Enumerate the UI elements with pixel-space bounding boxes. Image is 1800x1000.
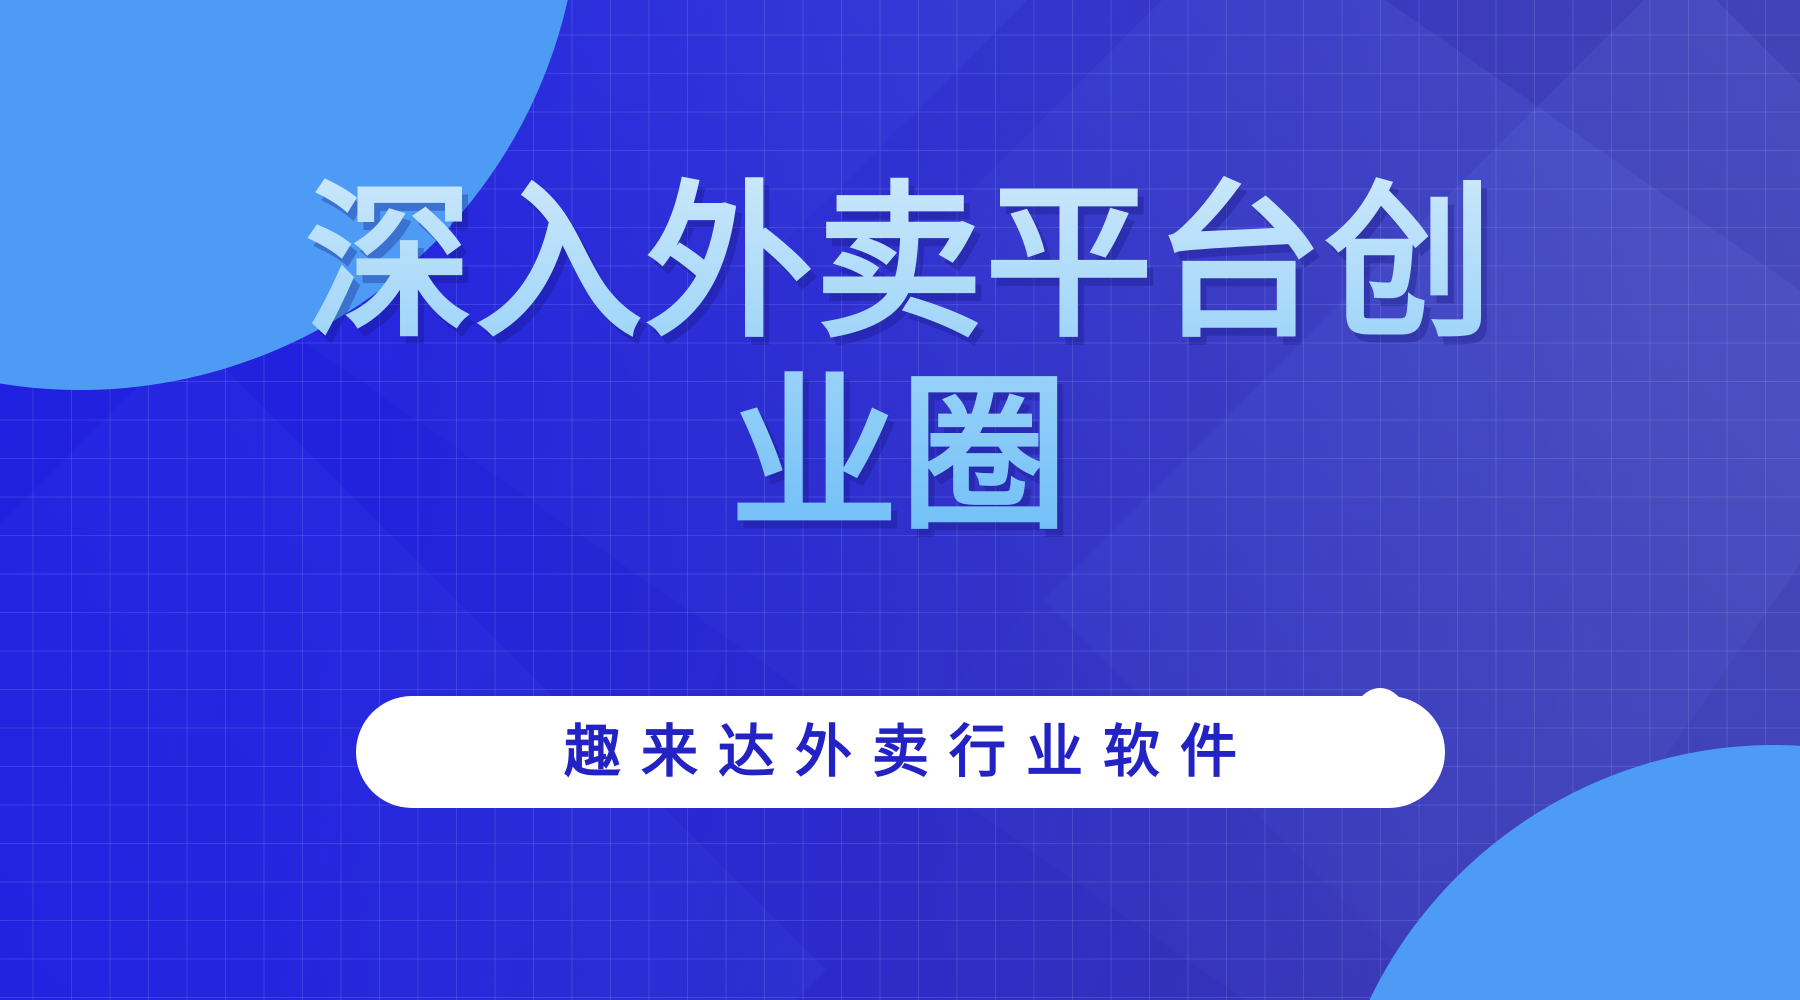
page-title: 深入外卖平台创 业圈: [305, 0, 1495, 551]
brand-badge[interactable]: 趣来达外卖行业软件: [356, 696, 1445, 808]
page-title-line-2: 业圈: [305, 360, 1495, 552]
brand-badge-label: 趣来达外卖行业软件: [544, 724, 1257, 781]
poster-canvas: 深入外卖平台创 业圈 趣来达外卖行业软件: [0, 0, 1800, 1000]
page-title-line-1: 深入外卖平台创: [305, 168, 1495, 360]
poster-content: 深入外卖平台创 业圈 趣来达外卖行业软件: [0, 0, 1800, 1000]
